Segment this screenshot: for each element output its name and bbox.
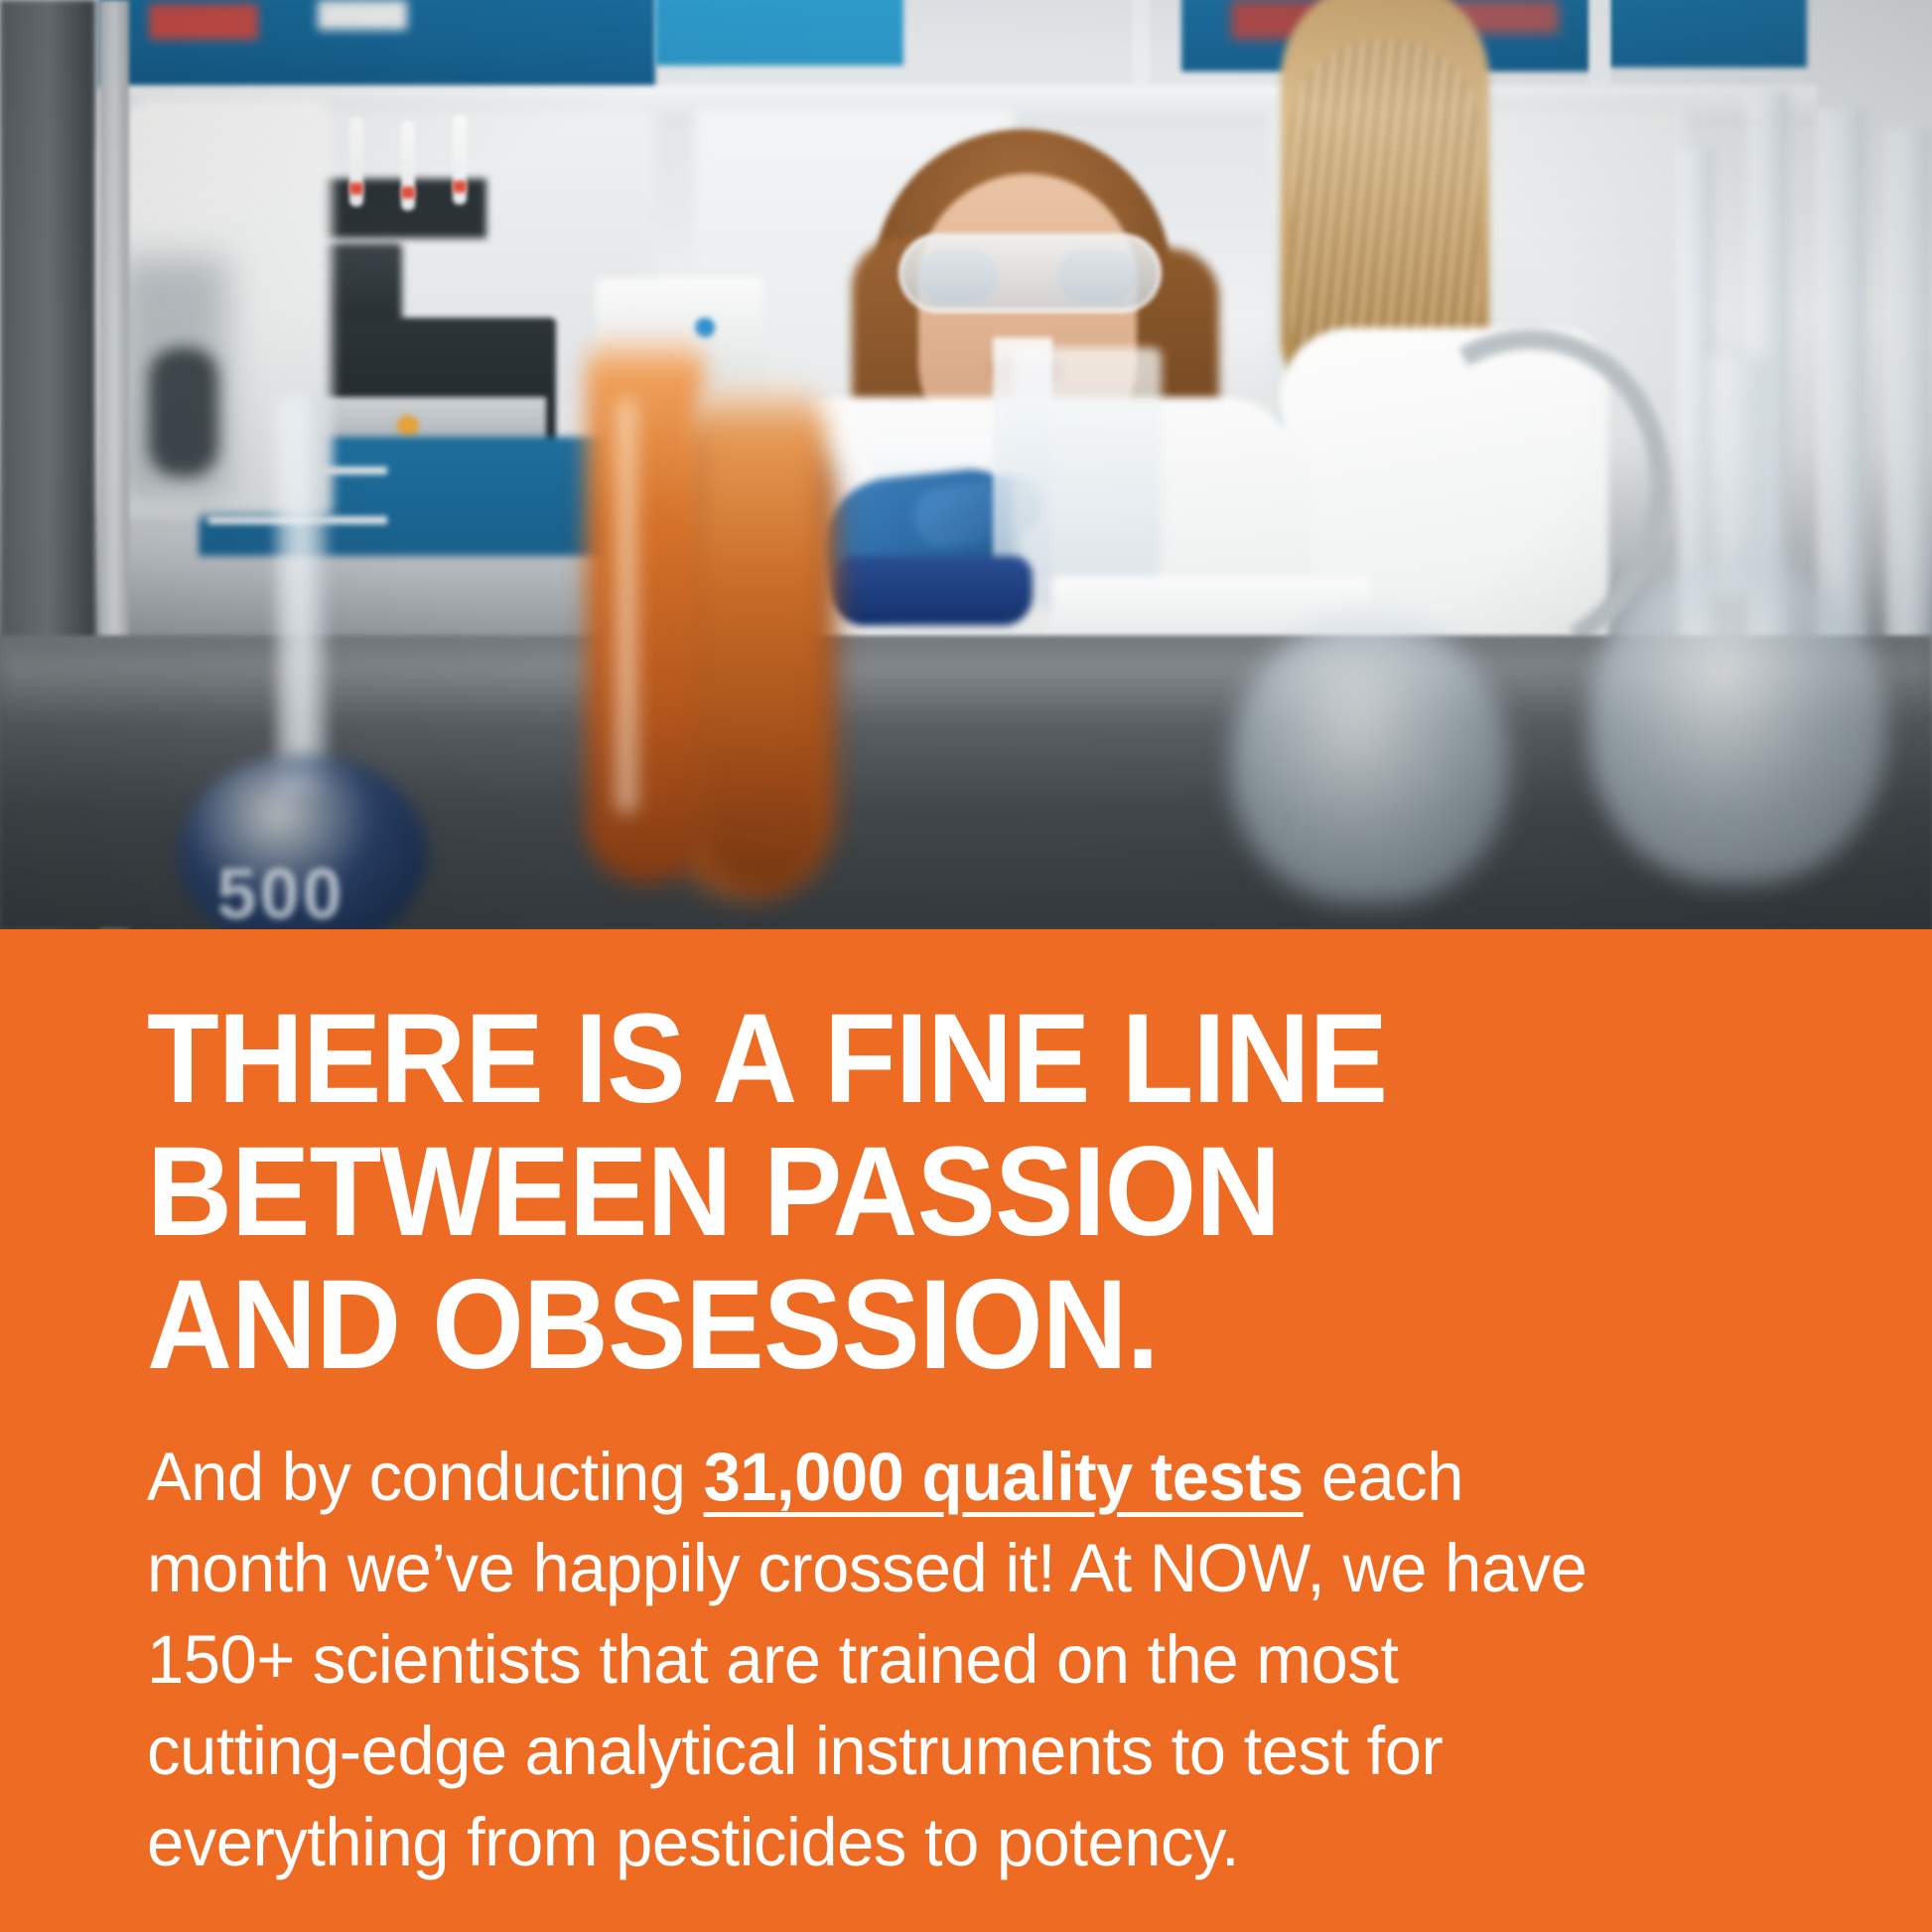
body-copy: And by conducting 31,000 quality tests e… bbox=[147, 1432, 1620, 1888]
body-copy-before: And by conducting bbox=[147, 1439, 704, 1515]
photo-vignette bbox=[0, 0, 1932, 929]
quality-tests-highlight: 31,000 quality tests bbox=[704, 1439, 1304, 1515]
headline: THERE IS A FINE LINE BETWEEN PASSION AND… bbox=[147, 993, 1587, 1392]
promo-poster: 500 THERE IS A FINE LINE BETWEEN PASSION… bbox=[0, 0, 1932, 1932]
lab-photo: 500 bbox=[0, 0, 1932, 929]
orange-message-panel: THERE IS A FINE LINE BETWEEN PASSION AND… bbox=[0, 929, 1932, 1932]
message-content: THERE IS A FINE LINE BETWEEN PASSION AND… bbox=[147, 993, 1696, 1888]
